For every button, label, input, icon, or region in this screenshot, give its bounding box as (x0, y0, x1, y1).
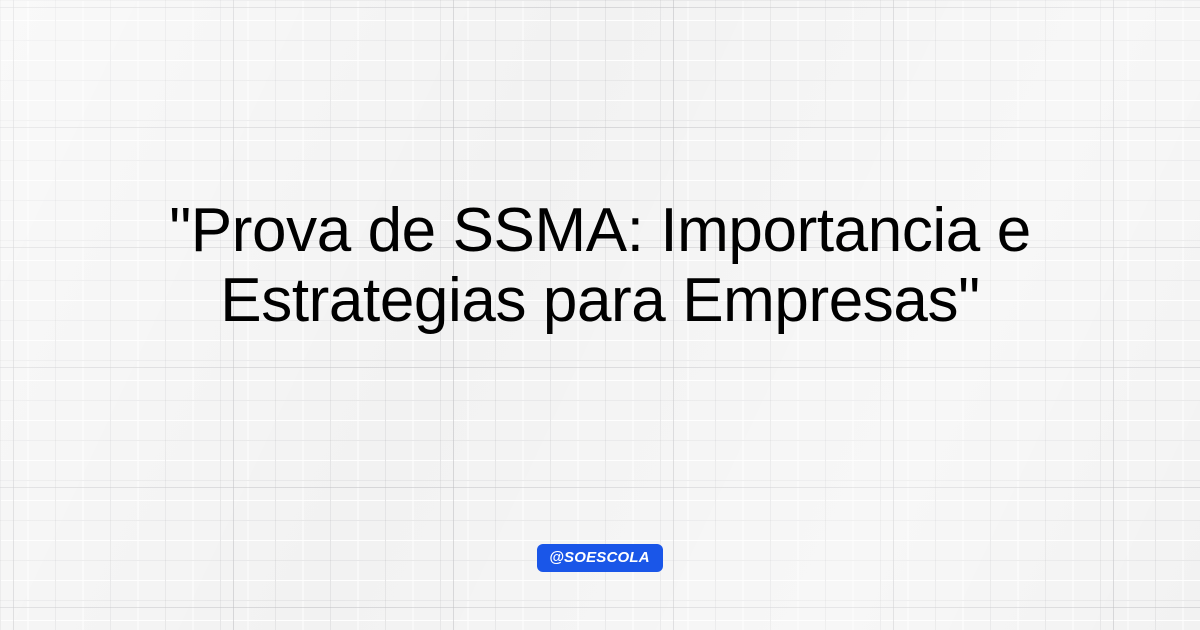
watermark-badge: @SOESCOLA (537, 544, 663, 572)
watermark-container: @SOESCOLA (0, 544, 1200, 572)
social-card: "Prova de SSMA: Importancia e Estrategia… (0, 0, 1200, 630)
page-title: "Prova de SSMA: Importancia e Estrategia… (0, 196, 1200, 336)
